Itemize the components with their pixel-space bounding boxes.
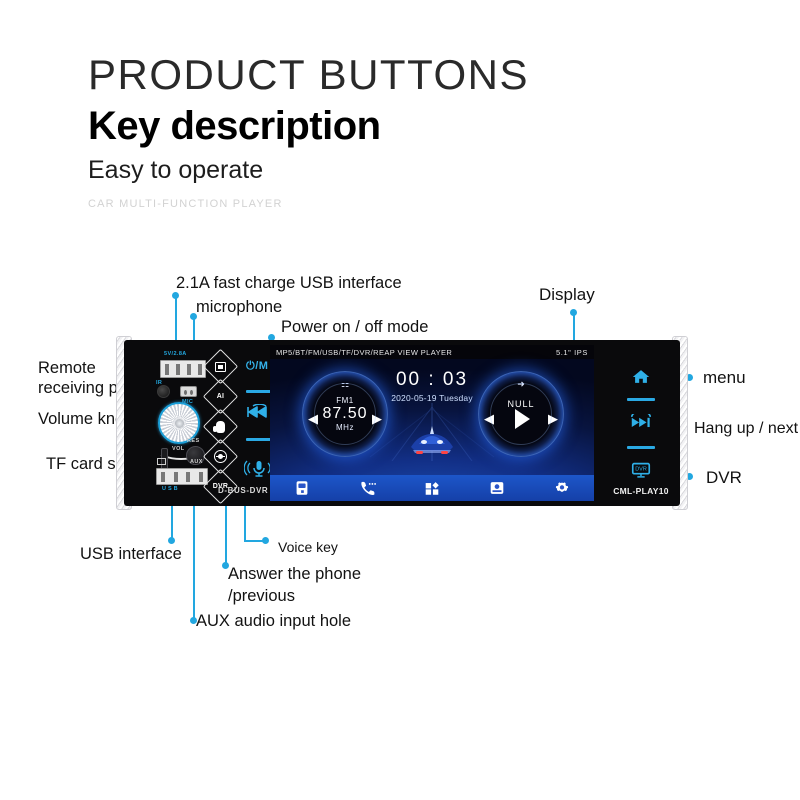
label-display: Display (539, 285, 595, 304)
hand-icon (216, 421, 225, 433)
player-track: NULL (507, 399, 534, 409)
label-usb-fast-charge: 2.1A fast charge USB interface (176, 274, 402, 293)
usb-port-media[interactable] (156, 468, 208, 485)
clock-date: 2020-05-19 Tuesday (372, 393, 492, 403)
right-divider-2 (627, 446, 655, 449)
label-remote-line1: Remote (38, 359, 96, 377)
right-divider-1 (627, 398, 655, 401)
car-stereo-device: 5V/2.8A IR MIC VOL RES AUX USB (124, 340, 680, 506)
clock-block: 00 : 03 2020-05-19 Tuesday (372, 369, 492, 403)
steering-icon-wrap (208, 444, 233, 469)
tuner-unit: MHz (336, 423, 354, 432)
page-title: PRODUCT BUTTONS (88, 52, 548, 98)
screen-status-bar: MP5/BT/FM/USB/TF/DVR/REAP VIEW PLAYER 5.… (270, 345, 594, 359)
page-tagline: Easy to operate (88, 154, 548, 186)
tuner-readout: FM1 87.50 MHz (314, 383, 376, 445)
clock-time: 00 : 03 (372, 369, 492, 391)
dvr-camera-icon[interactable]: DVR (630, 462, 652, 484)
connector-line-answer (225, 500, 227, 565)
label-aux-audio: AUX audio input hole (196, 612, 351, 631)
infographic-root: PRODUCT BUTTONS Key description Easy to … (0, 0, 800, 800)
sports-car-graphic (401, 425, 463, 455)
label-answer-line1: Answer the phone (228, 565, 361, 583)
usb-top-label: 5V/2.8A (164, 351, 187, 357)
label-answer-phone: Answer the phone /previous (228, 563, 361, 607)
svg-text:DVR: DVR (635, 467, 647, 473)
usb-port-fast-charge[interactable] (160, 360, 206, 378)
hangup-next-icon[interactable] (629, 414, 653, 434)
label-microphone: microphone (196, 298, 282, 317)
status-bar-left: MP5/BT/FM/USB/TF/DVR/REAP VIEW PLAYER (276, 348, 452, 357)
video-icon[interactable] (487, 480, 507, 497)
display-screen[interactable]: MP5/BT/FM/USB/TF/DVR/REAP VIEW PLAYER 5.… (270, 345, 594, 501)
screen-icon (208, 354, 233, 379)
steering-wheel-icon (214, 450, 227, 463)
vol-label: VOL (172, 446, 185, 452)
left-control-panel: 5V/2.8A IR MIC VOL RES AUX USB (134, 346, 264, 500)
hand-icon-wrap (208, 414, 233, 439)
connector-line-voice-v (244, 500, 246, 542)
label-voice-key: Voice key (278, 538, 338, 557)
previous-track-icon[interactable] (244, 404, 266, 418)
label-hang-up-next: Hang up / next (694, 419, 798, 438)
usb-bottom-label: USB (162, 486, 180, 492)
settings-gear-icon[interactable] (552, 480, 572, 497)
res-label: RES (187, 438, 200, 444)
right-touch-panel: DVR CML-PLAY10 (610, 346, 672, 500)
status-bar-right: 5.1" IPS (556, 348, 588, 357)
microphone-port[interactable] (180, 386, 197, 397)
diamond-key-column: AI DVR (208, 354, 242, 504)
radio-icon[interactable] (292, 480, 312, 497)
tf-card-icon (157, 458, 166, 465)
aux-label: AUX (190, 459, 203, 465)
label-answer-line2: /previous (228, 587, 295, 605)
connector-line-usb-interface (171, 500, 173, 540)
play-button-icon[interactable] (515, 409, 530, 429)
apps-grid-icon[interactable] (422, 480, 442, 497)
header-block: PRODUCT BUTTONS Key description Easy to … (88, 52, 548, 210)
phone-icon[interactable] (357, 480, 377, 497)
page-subtitle: Key description (88, 102, 548, 150)
voice-key-icon[interactable] (244, 458, 270, 476)
label-dvr: DVR (706, 468, 742, 487)
ai-key-label: AI (208, 384, 233, 409)
connector-line-voice-h (244, 540, 264, 542)
page-caption: CAR MULTI-FUNCTION PLAYER (88, 198, 548, 210)
connector-line-usb-fast-charge (175, 296, 177, 342)
power-mode-touch-label[interactable]: ⏻/M (246, 360, 268, 373)
bus-label: D-BUS-DVR (218, 486, 268, 495)
home-menu-icon[interactable] (631, 368, 651, 390)
touch-divider-2 (246, 438, 272, 441)
label-usb-interface: USB interface (80, 545, 182, 564)
screen-bottom-bar (270, 475, 594, 501)
player-readout: NULL (490, 383, 552, 445)
ir-label: IR (156, 380, 162, 386)
ir-remote-receiver (157, 385, 170, 398)
tuner-band: FM1 (336, 396, 354, 405)
media-player-dial[interactable]: ➜ ◀ ▶ NULL (478, 371, 564, 457)
label-power-mode: Power on / off mode (281, 318, 428, 337)
tuner-frequency: 87.50 (322, 405, 367, 423)
touch-divider-1 (246, 390, 272, 393)
device-model-label: CML-PLAY10 (613, 486, 669, 496)
label-menu: menu (703, 368, 746, 387)
monitor-icon (215, 362, 226, 372)
connector-line-aux (193, 500, 195, 620)
